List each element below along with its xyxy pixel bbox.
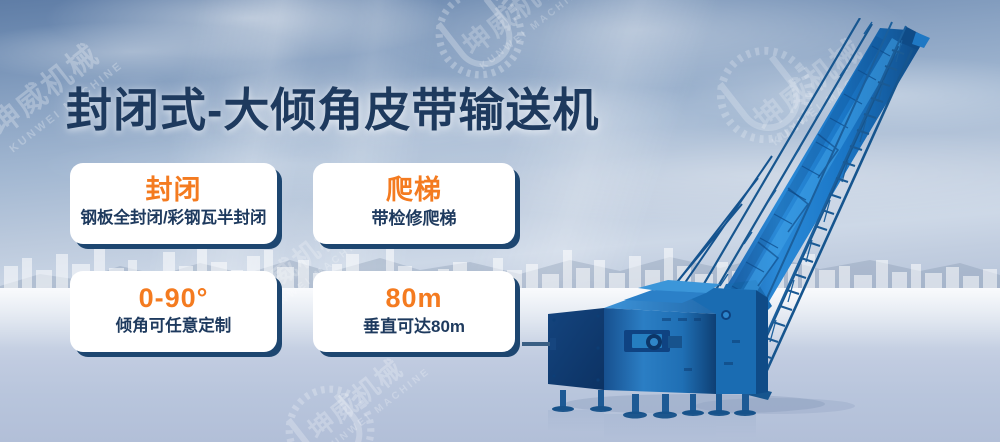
floor-reflection bbox=[548, 410, 756, 438]
product-banner: 坤威机械 KUNWEI MACHINE 坤威机械 KUNWEI MACHINE … bbox=[0, 0, 1000, 448]
feature-card-height[interactable]: 80m 垂直可达80m bbox=[313, 271, 515, 352]
bottom-white-strip bbox=[0, 442, 1000, 448]
banner-title: 封闭式-大倾角皮带输送机 bbox=[66, 74, 599, 140]
feature-card-subtext: 带检修爬梯 bbox=[372, 209, 457, 229]
feature-card-enclosed[interactable]: 封闭 钢板全封闭/彩钢瓦半封闭 bbox=[70, 163, 277, 244]
feature-card-heading: 爬梯 bbox=[386, 176, 442, 204]
feature-card-row-1: 封闭 钢板全封闭/彩钢瓦半封闭 爬梯 带检修爬梯 bbox=[70, 163, 515, 244]
feature-card-subtext: 垂直可达80m bbox=[363, 317, 465, 337]
drive-housing-unit bbox=[522, 280, 768, 394]
feature-card-grid: 封闭 钢板全封闭/彩钢瓦半封闭 爬梯 带检修爬梯 0-90° 倾角可任意定制 8… bbox=[70, 163, 515, 352]
feature-card-heading: 封闭 bbox=[146, 176, 202, 204]
feature-card-angle[interactable]: 0-90° 倾角可任意定制 bbox=[70, 271, 277, 352]
feature-card-ladder[interactable]: 爬梯 带检修爬梯 bbox=[313, 163, 515, 244]
feature-card-subtext: 钢板全封闭/彩钢瓦半封闭 bbox=[80, 209, 266, 229]
feature-card-heading: 80m bbox=[385, 284, 442, 312]
feature-card-row-2: 0-90° 倾角可任意定制 80m 垂直可达80m bbox=[70, 271, 515, 352]
feature-card-subtext: 倾角可任意定制 bbox=[116, 317, 232, 337]
feature-card-heading: 0-90° bbox=[139, 284, 209, 312]
